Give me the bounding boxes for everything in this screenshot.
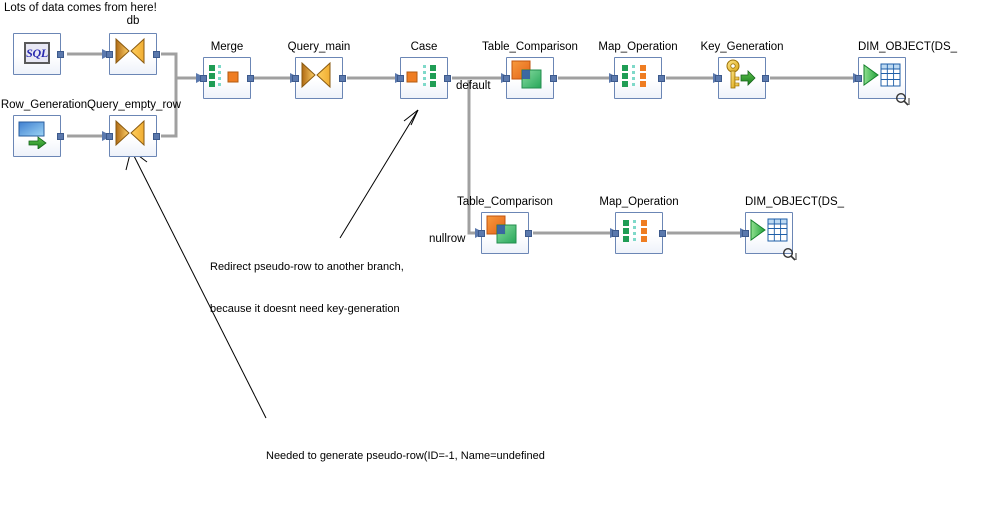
node-key-generation[interactable]	[718, 57, 766, 99]
node-icon-container	[482, 213, 528, 253]
node-icon-container	[507, 58, 553, 98]
node-table-comparison-2[interactable]	[481, 212, 529, 254]
node-icon-container	[616, 213, 662, 253]
sql-icon-box: SQL	[24, 42, 50, 64]
input-port[interactable]	[200, 75, 207, 82]
output-port[interactable]	[339, 75, 346, 82]
merge-icon	[206, 61, 246, 91]
canvas-note-top: Lots of data comes from here!	[4, 2, 157, 15]
case-icon	[403, 61, 443, 91]
node-query-main[interactable]	[295, 57, 343, 99]
input-port[interactable]	[106, 133, 113, 140]
node-icon-container	[204, 58, 250, 98]
node-case[interactable]	[400, 57, 448, 99]
input-port[interactable]	[715, 75, 722, 82]
node-label-dim-object-1: DIM_OBJECT(DS_	[858, 41, 1001, 54]
node-icon-container	[719, 58, 765, 98]
output-port[interactable]	[444, 75, 451, 82]
input-port[interactable]	[397, 75, 404, 82]
node-map-operation-1[interactable]	[614, 57, 662, 99]
node-map-operation-2[interactable]	[615, 212, 663, 254]
annotation-line-1: Needed to generate pseudo-row(ID=-1, Nam…	[266, 449, 545, 463]
port-label-default: default	[456, 80, 491, 92]
query-bowtie-icon	[113, 118, 147, 148]
input-port[interactable]	[611, 75, 618, 82]
output-port[interactable]	[57, 133, 64, 140]
annotation-line-2: because it doesnt need key-generation	[210, 302, 404, 316]
magnifier-icon[interactable]	[782, 247, 798, 263]
map-operation-icon	[618, 216, 658, 246]
node-label-query-empty-row: Query_empty_row	[74, 99, 194, 112]
input-port[interactable]	[106, 51, 113, 58]
node-icon-container	[14, 116, 60, 156]
node-icon-container	[401, 58, 447, 98]
input-port[interactable]	[855, 75, 862, 82]
query-bowtie-icon	[299, 60, 333, 90]
output-port[interactable]	[153, 51, 160, 58]
node-icon-container	[110, 116, 156, 156]
query-bowtie-icon	[113, 36, 147, 66]
output-port[interactable]	[153, 133, 160, 140]
node-table-comparison-1[interactable]	[506, 57, 554, 99]
node-icon-container	[296, 58, 342, 98]
output-port[interactable]	[525, 230, 532, 237]
node-label-table-comparison-2: Table_Comparison	[457, 196, 553, 209]
node-label-case: Case	[376, 41, 472, 54]
table-comparison-icon	[484, 214, 520, 246]
table-comparison-icon	[509, 59, 545, 91]
node-icon-container: SQL	[14, 34, 60, 74]
target-table-icon	[747, 215, 789, 245]
node-dim-object-1[interactable]	[858, 57, 906, 99]
node-label-db: db	[109, 15, 157, 28]
node-label-dim-object-2: DIM_OBJECT(DS_	[745, 196, 850, 209]
node-query-empty-row[interactable]	[109, 115, 157, 157]
sql-icon-text: SQL	[26, 46, 48, 61]
node-label-key-generation: Key_Generation	[694, 41, 790, 54]
node-dim-object-2[interactable]	[745, 212, 793, 254]
input-port[interactable]	[503, 75, 510, 82]
node-label-query-main: Query_main	[259, 41, 379, 54]
key-generation-icon	[721, 59, 757, 91]
dataflow-canvas: Lots of data comes from here! db Row_Gen…	[0, 0, 1001, 525]
row-generation-icon	[16, 119, 50, 149]
node-db-query[interactable]	[109, 33, 157, 75]
input-port[interactable]	[292, 75, 299, 82]
node-sql-source[interactable]: SQL	[13, 33, 61, 75]
annotation-redirect-note: Redirect pseudo-row to another branch, b…	[210, 232, 404, 344]
annotation-pseudo-row-note: Needed to generate pseudo-row(ID=-1, Nam…	[266, 421, 545, 491]
input-port[interactable]	[742, 230, 749, 237]
node-label-map-operation-2: Map_Operation	[591, 196, 687, 209]
map-operation-icon	[617, 61, 657, 91]
output-port[interactable]	[57, 51, 64, 58]
node-label-map-operation-1: Map_Operation	[590, 41, 686, 54]
node-merge[interactable]	[203, 57, 251, 99]
output-port[interactable]	[658, 75, 665, 82]
magnifier-icon[interactable]	[895, 92, 911, 108]
port-label-nullrow: nullrow	[429, 233, 465, 245]
input-port[interactable]	[478, 230, 485, 237]
node-icon-container	[110, 34, 156, 74]
output-port[interactable]	[550, 75, 557, 82]
node-label-table-comparison-1: Table_Comparison	[482, 41, 578, 54]
input-port[interactable]	[612, 230, 619, 237]
target-table-icon	[860, 60, 902, 90]
node-icon-container	[615, 58, 661, 98]
output-port[interactable]	[762, 75, 769, 82]
sql-icon: SQL	[20, 39, 54, 69]
output-port[interactable]	[247, 75, 254, 82]
annotation-line-1: Redirect pseudo-row to another branch,	[210, 260, 404, 274]
node-row-generation[interactable]	[13, 115, 61, 157]
output-port[interactable]	[659, 230, 666, 237]
